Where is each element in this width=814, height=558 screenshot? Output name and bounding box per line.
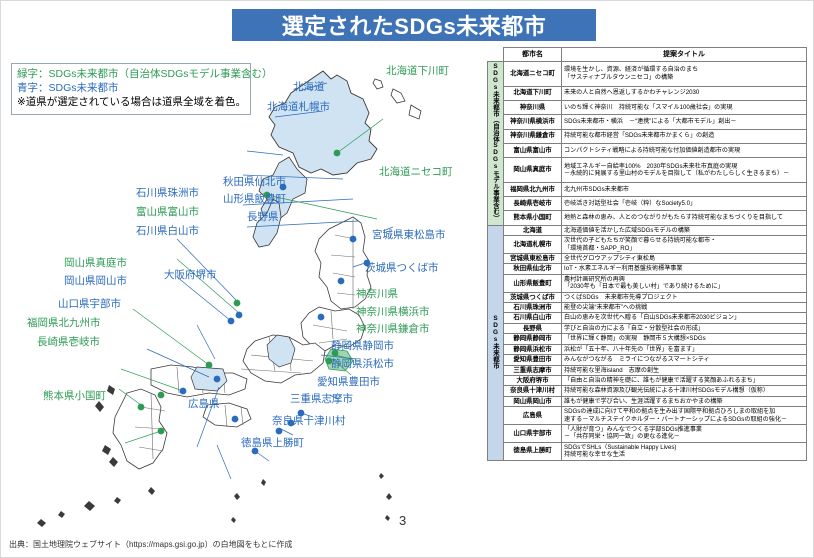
cell-city-name: 神奈川県横浜市 xyxy=(504,115,562,129)
cell-city-name: 奈良県十津川村 xyxy=(504,386,562,396)
map-label: 宮城県東松島市 xyxy=(372,229,446,241)
group-label-cell: SDGs未来都市 xyxy=(488,225,504,460)
cell-proposal-title: 白山の恵みを次世代へ贈る「白山SDGs未来都市2030ビジョン」 xyxy=(562,313,807,323)
cell-proposal-title: 北海道価値を活かした広域SDGsモデルの構築 xyxy=(562,225,807,235)
header-city: 都市名 xyxy=(504,48,562,62)
table-row: 石川県珠洲市能登の尖端“未来都市”への挑戦 xyxy=(488,303,807,313)
table-row: SDGs未来都市（自治体SDGsモデル事業含む）北海道ニセコ町環境を生かし、資源… xyxy=(488,62,807,87)
cell-city-name: 静岡県静岡市 xyxy=(504,334,562,344)
map-dot xyxy=(138,404,145,411)
map-label: 北海道札幌市 xyxy=(267,101,330,113)
cell-city-name: 山口県宇部市 xyxy=(504,424,562,442)
cell-proposal-title: 全世代グロウアップシティ東松島 xyxy=(562,254,807,264)
cell-proposal-title: 次世代の子どもたちが笑顔で暮らせる持続可能な都市・「環境首都・SAPP_RO」 xyxy=(562,236,807,254)
cell-proposal-title: 「自由と自治の精神を礎に、誰もが健康で活躍する笑顔あふれるまち」 xyxy=(562,375,807,385)
map-dot xyxy=(214,376,221,383)
group-label-cell: SDGs未来都市（自治体SDGsモデル事業含む） xyxy=(488,62,504,226)
map-dot xyxy=(232,416,239,423)
cell-city-name: 広島県 xyxy=(504,407,562,425)
cell-city-name: 北海道札幌市 xyxy=(504,236,562,254)
cell-city-name: 三重県志摩市 xyxy=(504,365,562,375)
cell-proposal-title: コンパクトシティ戦略による持続可能な付加価値創造都市の実現 xyxy=(562,143,807,157)
map-label: 山形県飯豊町 xyxy=(223,193,286,205)
table-row: 広島県SDGsの達成に向けて平和の拠点を生み出す国際平和拠点ひろしまの取組を加速… xyxy=(488,407,807,425)
map-dot xyxy=(206,362,213,369)
map-dot xyxy=(158,392,165,399)
cell-city-name: 山形県飯豊町 xyxy=(504,274,562,292)
table-row: 大阪府堺市「自由と自治の精神を礎に、誰もが健康で活躍する笑顔あふれるまち」 xyxy=(488,375,807,385)
cell-proposal-title: つくばSDGs 未来都市先導プロジェクト xyxy=(562,292,807,302)
cell-city-name: 岡山県真庭市 xyxy=(504,158,562,183)
map-label: 静岡県浜松市 xyxy=(331,358,394,370)
cell-proposal-title: 地域エネルギー自給率100% 2030年SDGs未来杜市真庭の実現－永続的に発展… xyxy=(562,158,807,183)
table-row: 熊本県小国町地熱と森林の恵み、人とのつながりがもたらす持続可能なまちづくりを目指… xyxy=(488,211,807,225)
map-dot xyxy=(236,312,243,319)
cell-proposal-title: 誰もが健康で学び合い、生涯活躍するまちおかやまの構築 xyxy=(562,396,807,406)
cell-proposal-title: IoT・水素エネルギー利用基盤技術標準事業 xyxy=(562,264,807,274)
table-row: 静岡県静岡市「世界に輝く静岡」の実現 静岡市５大構想×SDGs xyxy=(488,334,807,344)
header-spacer xyxy=(488,48,504,62)
table-row: 長野県学びと自治の力による「自立・分散型社会の形成」 xyxy=(488,323,807,333)
map-label: 大阪府堺市 xyxy=(164,269,217,281)
table-row: 岡山県岡山市誰もが健康で学び合い、生涯活躍するまちおかやまの構築 xyxy=(488,396,807,406)
map-label: 岡山県岡山市 xyxy=(64,275,127,287)
map-label: 熊本県小国町 xyxy=(43,390,106,402)
cell-proposal-title: 浜松が「五十年、八十年先の「世界」を富ます」 xyxy=(562,344,807,354)
map-label: 神奈川県鎌倉市 xyxy=(356,323,430,335)
table-row: 神奈川県鎌倉市持続可能な都市経営「SDGs未来都市かまくら」の創造 xyxy=(488,129,807,143)
map-dot xyxy=(318,314,325,321)
map-label: 神奈川県 xyxy=(356,288,398,300)
map-label: 岡山県真庭市 xyxy=(64,257,127,269)
table-row: 山形県飯豊町農村計画研究所の再興「2030年も「日本で最も美しい村」であり続ける… xyxy=(488,274,807,292)
cell-city-name: 静岡県浜松市 xyxy=(504,344,562,354)
table-row: SDGs未来都市北海道北海道価値を活かした広域SDGsモデルの構築 xyxy=(488,225,807,235)
map-dot xyxy=(276,428,283,435)
map-label: 北海道 xyxy=(293,81,325,93)
cell-proposal-title: 未来の人と自然へ恩返しするかわチャレンジ2030 xyxy=(562,86,807,100)
map-label: 茨城県つくば市 xyxy=(365,262,439,274)
table-row: 神奈川県いのち輝く神奈川 持続可能な「スマイル100歳社会」の実現 xyxy=(488,100,807,114)
cell-proposal-title: 「人財が育つ」みんなでつくる宇部SDGs推進事業－「共存同栄・協同一致」の更なる… xyxy=(562,424,807,442)
table-row: 宮城県東松島市全世代グロウアップシティ東松島 xyxy=(488,254,807,264)
group-label-text: SDGs未来都市 xyxy=(491,315,500,369)
cell-city-name: 北海道下川町 xyxy=(504,86,562,100)
table-row: 静岡県浜松市浜松が「五十年、八十年先の「世界」を富ます」 xyxy=(488,344,807,354)
table-row: 茨城県つくば市つくばSDGs 未来都市先導プロジェクト xyxy=(488,292,807,302)
table-row: 愛知県豊田市みんながつながる ミライにつながるスマートシティ xyxy=(488,355,807,365)
cell-proposal-title: 能登の尖端“未来都市”への挑戦 xyxy=(562,303,807,313)
map-label: 石川県珠洲市 xyxy=(136,187,199,199)
group-label-text: SDGs未来都市（自治体SDGsモデル事業含む） xyxy=(491,63,500,221)
japan-map-svg xyxy=(1,49,481,529)
cell-city-name: 石川県珠洲市 xyxy=(504,303,562,313)
table-row: 徳島県上勝町SDGsでSHLs（Sustainable Happy Lives)… xyxy=(488,442,807,460)
table-row: 山口県宇部市「人財が育つ」みんなでつくる宇部SDGs推進事業－「共存同栄・協同一… xyxy=(488,424,807,442)
page-number: 3 xyxy=(399,513,406,528)
map-label: 広島県 xyxy=(188,398,220,410)
cell-city-name: 熊本県小国町 xyxy=(504,211,562,225)
map-dot xyxy=(158,428,165,435)
cell-proposal-title: 持続可能な都市経営「SDGs未来都市かまくら」の創造 xyxy=(562,129,807,143)
cell-city-name: 大阪府堺市 xyxy=(504,375,562,385)
cell-city-name: 神奈川県鎌倉市 xyxy=(504,129,562,143)
map-label: 長崎県壱岐市 xyxy=(37,336,100,348)
cell-proposal-title: 北九州市SDGs未来都市 xyxy=(562,182,807,196)
cell-proposal-title: みんながつながる ミライにつながるスマートシティ xyxy=(562,355,807,365)
cell-proposal-title: 環境を生かし、資源、経済が循環する自治のまち「サスティナブルタウンニセコ」の構築 xyxy=(562,62,807,87)
map-label: 神奈川県横浜市 xyxy=(356,306,430,318)
map-dot xyxy=(334,150,341,157)
cell-proposal-title: 農村計画研究所の再興「2030年も「日本で最も美しい村」であり続けるために」 xyxy=(562,274,807,292)
cell-city-name: 富山県富山市 xyxy=(504,143,562,157)
table-row: 長崎県壱岐市壱岐活き対話型社会「壱岐（粋）なSociety5.0」 xyxy=(488,197,807,211)
city-table: 都市名 提案タイトル SDGs未来都市（自治体SDGsモデル事業含む）北海道ニセ… xyxy=(487,47,807,461)
map-dot xyxy=(338,278,345,285)
cell-proposal-title: SDGsの達成に向けて平和の拠点を生み出す国際平和拠点ひろしまの取組を加速する－… xyxy=(562,407,807,425)
map-label: 山口県宇部市 xyxy=(58,298,121,310)
map-label: 富山県富山市 xyxy=(136,206,199,218)
table-row: 北海道下川町未来の人と自然へ恩返しするかわチャレンジ2030 xyxy=(488,86,807,100)
cell-proposal-title: 地熱と森林の恵み、人とのつながりがもたらす持続可能なまちづくりを目指して xyxy=(562,211,807,225)
table-row: 秋田県仙北市IoT・水素エネルギー利用基盤技術標準事業 xyxy=(488,264,807,274)
cell-city-name: 北海道 xyxy=(504,225,562,235)
map-dot xyxy=(180,388,187,395)
table-body: SDGs未来都市（自治体SDGsモデル事業含む）北海道ニセコ町環境を生かし、資源… xyxy=(488,62,807,461)
cell-city-name: 神奈川県 xyxy=(504,100,562,114)
page-title: 選定されたSDGs未来都市 xyxy=(282,9,546,41)
japan-map: 北海道下川町北海道北海道札幌市北海道ニセコ町秋田県仙北市山形県飯豊町長野県宮城県… xyxy=(1,49,481,529)
map-label: 三重県志摩市 xyxy=(290,393,353,405)
cell-proposal-title: 「世界に輝く静岡」の実現 静岡市５大構想×SDGs xyxy=(562,334,807,344)
cell-city-name: 岡山県岡山市 xyxy=(504,396,562,406)
table-row: 岡山県真庭市地域エネルギー自給率100% 2030年SDGs未来杜市真庭の実現－… xyxy=(488,158,807,183)
cell-city-name: 長野県 xyxy=(504,323,562,333)
city-table-container: 都市名 提案タイトル SDGs未来都市（自治体SDGsモデル事業含む）北海道ニセ… xyxy=(487,47,807,461)
map-label: 北海道下川町 xyxy=(386,65,449,77)
map-label: 長野県 xyxy=(247,211,279,223)
map-dot xyxy=(234,300,241,307)
map-dot xyxy=(350,236,357,243)
cell-proposal-title: SDGsでSHLs（Sustainable Happy Lives)持続可能な幸… xyxy=(562,442,807,460)
cell-city-name: 茨城県つくば市 xyxy=(504,292,562,302)
cell-proposal-title: 持続可能な里海island 志摩の創生 xyxy=(562,365,807,375)
map-label: 静岡県静岡市 xyxy=(331,340,394,352)
cell-city-name: 愛知県豊田市 xyxy=(504,355,562,365)
slide-title-bar: 選定されたSDGs未来都市 xyxy=(232,9,596,41)
table-row: 神奈川県横浜市SDGs未来都市・横浜 －“連携”による「大都市モデル」創出－ xyxy=(488,115,807,129)
map-dot xyxy=(228,318,235,325)
source-note: 出典：国土地理院ウェブサイト（https://maps.gsi.go.jp）の白… xyxy=(9,539,292,550)
table-row: 三重県志摩市持続可能な里海island 志摩の創生 xyxy=(488,365,807,375)
header-proposal: 提案タイトル xyxy=(562,48,807,62)
table-row: 石川県白山市白山の恵みを次世代へ贈る「白山SDGs未来都市2030ビジョン」 xyxy=(488,313,807,323)
cell-proposal-title: 持続可能な森林資源及び観光伝統による十津川村SDGsモデル構想（仮称） xyxy=(562,386,807,396)
cell-city-name: 北海道ニセコ町 xyxy=(504,62,562,87)
map-label: 愛知県豊田市 xyxy=(317,376,380,388)
table-row: 北海道札幌市次世代の子どもたちが笑顔で暮らせる持続可能な都市・「環境首都・SAP… xyxy=(488,236,807,254)
cell-proposal-title: SDGs未来都市・横浜 －“連携”による「大都市モデル」創出－ xyxy=(562,115,807,129)
cell-city-name: 徳島県上勝町 xyxy=(504,442,562,460)
map-label: 秋田県仙北市 xyxy=(223,176,286,188)
cell-proposal-title: いのち輝く神奈川 持続可能な「スマイル100歳社会」の実現 xyxy=(562,100,807,114)
cell-proposal-title: 学びと自治の力による「自立・分散型社会の形成」 xyxy=(562,323,807,333)
cell-city-name: 宮城県東松島市 xyxy=(504,254,562,264)
map-label: 徳島県上勝町 xyxy=(241,437,304,449)
map-label: 奈良県十津川村 xyxy=(272,415,346,427)
cell-proposal-title: 壱岐活き対話型社会「壱岐（粋）なSociety5.0」 xyxy=(562,197,807,211)
map-label: 北海道ニセコ町 xyxy=(379,166,453,178)
cell-city-name: 石川県白山市 xyxy=(504,313,562,323)
table-row: 福岡県北九州市北九州市SDGs未来都市 xyxy=(488,182,807,196)
cell-city-name: 秋田県仙北市 xyxy=(504,264,562,274)
table-row: 奈良県十津川村持続可能な森林資源及び観光伝統による十津川村SDGsモデル構想（仮… xyxy=(488,386,807,396)
slide-page: 選定されたSDGs未来都市 緑字：SDGs未来都市（自治体SDGsモデル事業含む… xyxy=(0,0,814,558)
map-label: 福岡県北九州市 xyxy=(27,317,101,329)
table-row: 富山県富山市コンパクトシティ戦略による持続可能な付加価値創造都市の実現 xyxy=(488,143,807,157)
cell-city-name: 福岡県北九州市 xyxy=(504,182,562,196)
map-label: 石川県白山市 xyxy=(136,225,199,237)
cell-city-name: 長崎県壱岐市 xyxy=(504,197,562,211)
table-header-row: 都市名 提案タイトル xyxy=(488,48,807,62)
